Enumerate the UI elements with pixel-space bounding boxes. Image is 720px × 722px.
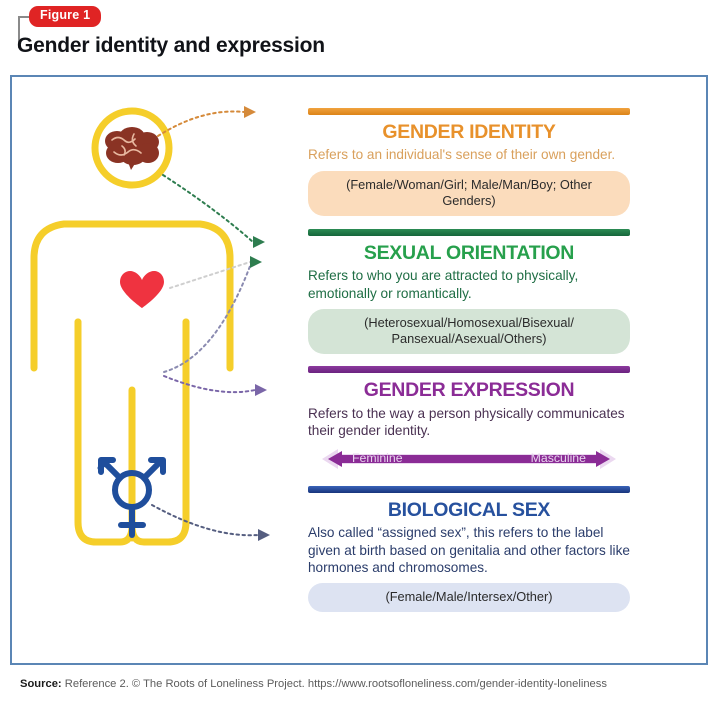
source-line: Source: Reference 2. © The Roots of Lone… — [20, 678, 607, 690]
connector-brain-to-gender-identity — [158, 112, 244, 137]
connector-head-to-sexual-orientation — [163, 175, 253, 242]
section-description-gender-expression: Refers to the way a person physically co… — [308, 405, 630, 440]
spectrum-label-feminine: Feminine — [352, 451, 403, 465]
section-gender-identity: GENDER IDENTITY Refers to an individual'… — [308, 108, 630, 216]
section-title-sexual-orientation: SEXUAL ORIENTATION — [308, 242, 630, 264]
section-gender-expression: GENDER EXPRESSION Refers to the way a pe… — [308, 366, 630, 472]
section-description-biological-sex: Also called “assigned sex”, this refers … — [308, 524, 630, 576]
connector-body-to-biological-sex — [152, 505, 258, 535]
connector-body-to-gender-expression — [164, 258, 253, 372]
connector-heart-to-sexual-orientation — [170, 262, 250, 288]
section-description-sexual-orientation: Refers to who you are attracted to physi… — [308, 267, 630, 302]
definitions-column: GENDER IDENTITY Refers to an individual'… — [308, 108, 630, 612]
heart-icon — [120, 271, 164, 308]
section-examples-biological-sex: (Female/Male/Intersex/Other) — [308, 583, 630, 612]
section-rule-blue — [308, 486, 630, 493]
section-rule-purple — [308, 366, 630, 373]
section-sexual-orientation: SEXUAL ORIENTATION Refers to who you are… — [308, 229, 630, 354]
connector-arrowheads — [244, 106, 270, 541]
section-rule-orange — [308, 108, 630, 115]
source-label: Source: — [20, 678, 62, 690]
section-biological-sex: BIOLOGICAL SEX Also called “assigned sex… — [308, 486, 630, 612]
section-title-biological-sex: BIOLOGICAL SEX — [308, 499, 630, 521]
human-figure-illustration — [12, 90, 312, 650]
section-examples-gender-identity: (Female/Woman/Girl; Male/Man/Boy; Other … — [308, 171, 630, 216]
spectrum-label-masculine: Masculine — [531, 451, 586, 465]
figure-badge: Figure 1 — [29, 6, 101, 27]
page-title: Gender identity and expression — [17, 34, 325, 58]
figure-page: Figure 1 Gender identity and expression — [0, 0, 720, 722]
section-title-gender-expression: GENDER EXPRESSION — [308, 379, 630, 401]
section-examples-sexual-orientation: (Heterosexual/Homosexual/Bisexual/ Panse… — [308, 309, 630, 354]
section-description-gender-identity: Refers to an individual's sense of their… — [308, 146, 630, 163]
brain-icon — [105, 127, 159, 170]
section-title-gender-identity: GENDER IDENTITY — [308, 121, 630, 143]
section-rule-green — [308, 229, 630, 236]
source-text: Reference 2. © The Roots of Loneliness P… — [65, 678, 607, 690]
gender-expression-spectrum: Feminine Masculine — [308, 446, 630, 472]
connector-groin-to-gender-expression-2 — [164, 376, 255, 392]
